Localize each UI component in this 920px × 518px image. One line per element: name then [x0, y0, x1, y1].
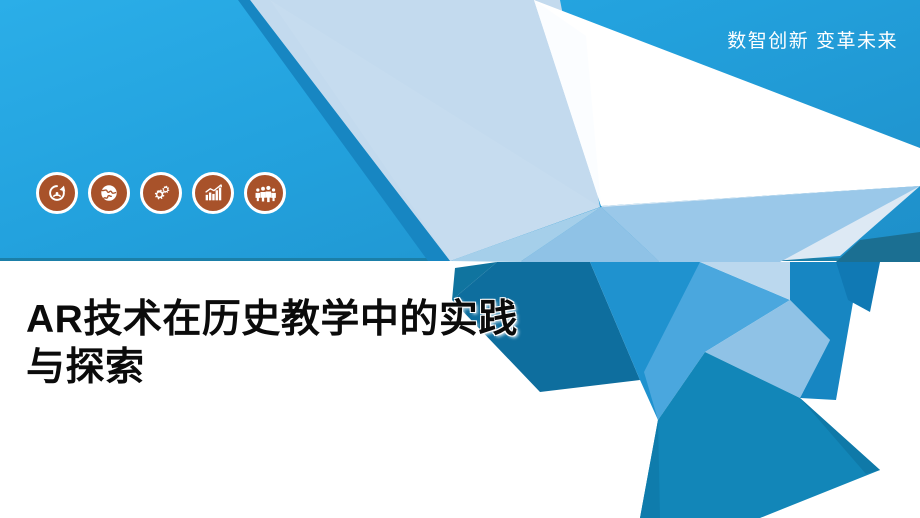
refresh-arrow-icon [46, 182, 68, 204]
poly-lower-tail-shadow [640, 420, 660, 518]
slide-title: AR技术在历史教学中的实践 与探索 [26, 296, 566, 391]
icon-gears[interactable] [140, 172, 182, 214]
slide-tagline: 数智创新 变革未来 [727, 26, 898, 53]
gears-icon [150, 182, 173, 205]
feature-icon-row [36, 172, 286, 214]
globe-icon [98, 182, 120, 204]
title-line-2: 与探索 [26, 344, 566, 392]
icon-people-group[interactable] [244, 172, 286, 214]
people-group-icon [254, 182, 277, 205]
low-poly-decoration [0, 0, 920, 518]
icon-globe[interactable] [88, 172, 130, 214]
icon-refresh-arrow[interactable] [36, 172, 78, 214]
title-line-1: AR技术在历史教学中的实践 [26, 296, 566, 344]
bar-chart-icon [202, 182, 224, 204]
icon-bar-chart[interactable] [192, 172, 234, 214]
presentation-slide: 数智创新 变革未来 [0, 0, 920, 518]
